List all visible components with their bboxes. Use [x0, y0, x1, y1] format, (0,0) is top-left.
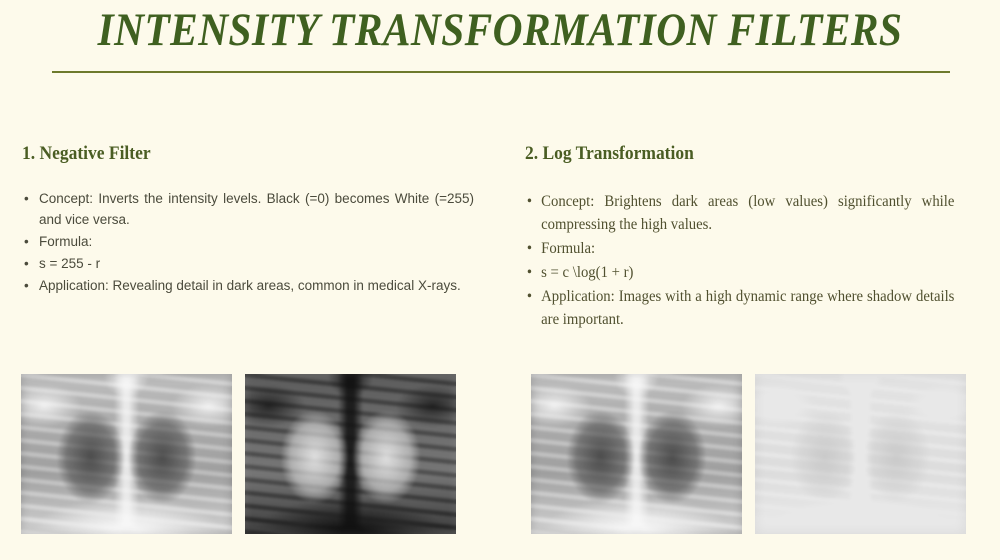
slide-canvas: INTENSITY TRANSFORMATION FILTERS 1. Nega…: [0, 0, 1000, 560]
section-heading-log-transformation: 2. Log Transformation: [525, 142, 941, 166]
section-log-transformation: 2. Log Transformation Concept: Brightens…: [525, 142, 977, 332]
section-heading-negative-filter: 1. Negative Filter: [22, 142, 438, 166]
list-item: Formula:: [22, 231, 474, 252]
list-item: s = c \log(1 + r): [525, 261, 954, 284]
image-row-negative-filter: [21, 374, 456, 534]
image-row-log-transformation: [531, 374, 966, 534]
xray-body: [21, 374, 232, 534]
list-item: Application: Images with a high dynamic …: [525, 285, 954, 331]
section-negative-filter: 1. Negative Filter Concept: Inverts the …: [22, 142, 474, 297]
list-item: s = 255 - r: [22, 253, 474, 274]
bullet-list-negative-filter: Concept: Inverts the intensity levels. B…: [22, 188, 474, 296]
chest-xray-original-image: [21, 374, 232, 534]
xray-body: [245, 374, 456, 534]
xray-body: [531, 374, 742, 534]
slide-header: INTENSITY TRANSFORMATION FILTERS: [0, 0, 1000, 80]
page-title: INTENSITY TRANSFORMATION FILTERS: [60, 2, 940, 58]
list-item: Concept: Brightens dark areas (low value…: [525, 190, 954, 236]
list-item: Concept: Inverts the intensity levels. B…: [22, 188, 474, 230]
bullet-list-log-transformation: Concept: Brightens dark areas (low value…: [525, 190, 977, 331]
chest-xray-original-image: [531, 374, 742, 534]
xray-body: [755, 374, 966, 534]
title-divider: [52, 71, 950, 73]
list-item: Formula:: [525, 237, 954, 260]
chest-xray-log-transformed-image: [755, 374, 966, 534]
list-item: Application: Revealing detail in dark ar…: [22, 275, 474, 296]
chest-xray-negative-image: [245, 374, 456, 534]
